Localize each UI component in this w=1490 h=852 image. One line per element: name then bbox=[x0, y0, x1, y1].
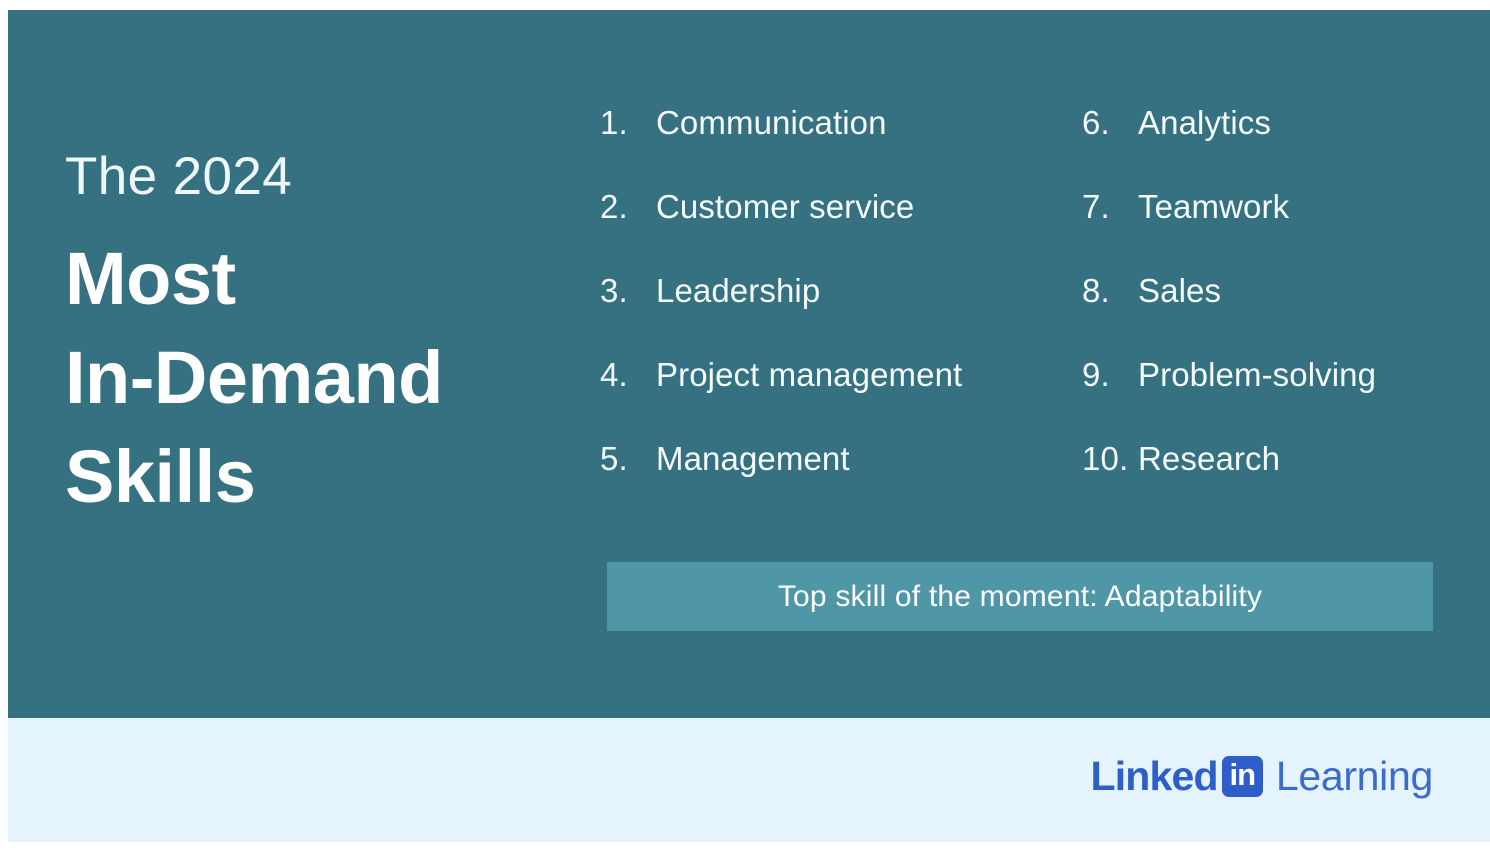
list-item-label: Management bbox=[656, 442, 850, 475]
infographic-card: The 2024 Most In-Demand Skills 1. Commun… bbox=[8, 10, 1490, 842]
list-item: 1. Communication bbox=[600, 106, 1082, 190]
list-item-number: 9. bbox=[1082, 358, 1138, 391]
list-item-label: Problem-solving bbox=[1138, 358, 1376, 391]
list-item-number: 8. bbox=[1082, 274, 1138, 307]
hero-panel: The 2024 Most In-Demand Skills 1. Commun… bbox=[8, 10, 1490, 718]
list-item-label: Sales bbox=[1138, 274, 1221, 307]
list-item: 3. Leadership bbox=[600, 274, 1082, 358]
list-item-label: Teamwork bbox=[1138, 190, 1289, 223]
page-title: Most In-Demand Skills bbox=[65, 229, 535, 526]
list-item: 6. Analytics bbox=[1082, 106, 1440, 190]
brand-learning-text: Learning bbox=[1276, 756, 1433, 797]
list-item-number: 5. bbox=[600, 442, 656, 475]
list-item-number: 10. bbox=[1082, 442, 1138, 475]
list-item: 8. Sales bbox=[1082, 274, 1440, 358]
list-item-label: Project management bbox=[656, 358, 962, 391]
footer-bar: Linked in Learning bbox=[8, 720, 1490, 842]
list-item: 5. Management bbox=[600, 442, 1082, 526]
list-item: 10. Research bbox=[1082, 442, 1440, 526]
brand-linked-text: Linked bbox=[1090, 756, 1217, 797]
list-item: 4. Project management bbox=[600, 358, 1082, 442]
title-eyebrow: The 2024 bbox=[65, 150, 535, 203]
list-item-number: 2. bbox=[600, 190, 656, 223]
list-item-number: 7. bbox=[1082, 190, 1138, 223]
skills-column-left: 1. Communication 2. Customer service 3. … bbox=[600, 106, 1082, 526]
list-item-label: Analytics bbox=[1138, 106, 1271, 139]
top-skill-banner: Top skill of the moment: Adaptability bbox=[607, 562, 1433, 631]
list-item-label: Leadership bbox=[656, 274, 820, 307]
brand-in-text: in bbox=[1230, 759, 1256, 790]
title-block: The 2024 Most In-Demand Skills bbox=[65, 150, 535, 526]
list-item: 7. Teamwork bbox=[1082, 190, 1440, 274]
list-item-number: 4. bbox=[600, 358, 656, 391]
top-skill-text: Top skill of the moment: Adaptability bbox=[778, 580, 1262, 614]
list-item-label: Customer service bbox=[656, 190, 914, 223]
list-item-number: 6. bbox=[1082, 106, 1138, 139]
title-line-1: Most bbox=[65, 229, 535, 328]
list-item-label: Communication bbox=[656, 106, 887, 139]
list-item-number: 3. bbox=[600, 274, 656, 307]
list-item: 9. Problem-solving bbox=[1082, 358, 1440, 442]
linkedin-learning-logo: Linked in Learning bbox=[1090, 756, 1433, 797]
linkedin-in-icon: in bbox=[1222, 756, 1263, 797]
title-line-2: In-Demand bbox=[65, 328, 535, 427]
list-item-number: 1. bbox=[600, 106, 656, 139]
title-line-3: Skills bbox=[65, 427, 535, 526]
list-item: 2. Customer service bbox=[600, 190, 1082, 274]
skills-column-right: 6. Analytics 7. Teamwork 8. Sales 9. Pro… bbox=[1082, 106, 1440, 526]
skills-list: 1. Communication 2. Customer service 3. … bbox=[600, 106, 1440, 526]
list-item-label: Research bbox=[1138, 442, 1280, 475]
